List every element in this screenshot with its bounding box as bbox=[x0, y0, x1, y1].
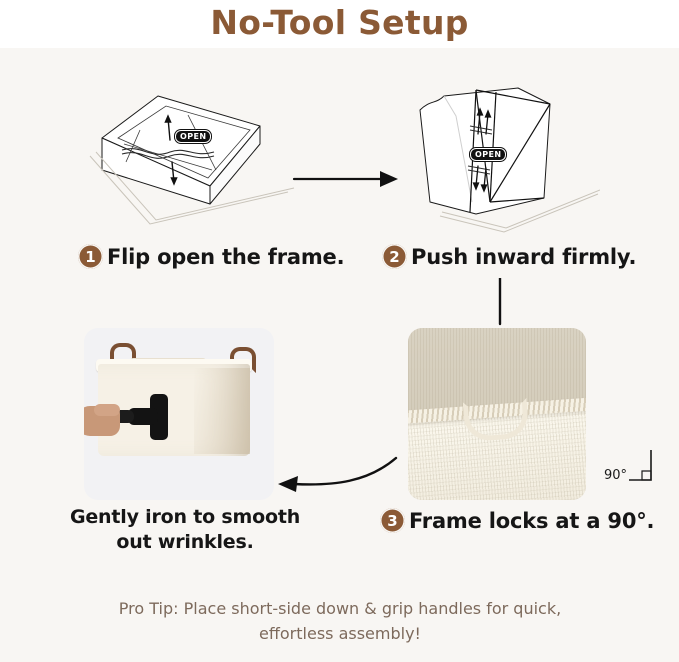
step-3-number: 3 bbox=[380, 508, 405, 533]
right-angle-icon bbox=[629, 448, 659, 486]
step-2-caption: 2 Push inward firmly. bbox=[382, 244, 636, 269]
pro-tip: Pro Tip: Place short-side down & grip ha… bbox=[60, 596, 620, 646]
step-2-illustration: OPEN bbox=[400, 82, 600, 234]
step-3-photo bbox=[408, 328, 586, 500]
iron-photo bbox=[84, 328, 274, 500]
step-1-label: Flip open the frame. bbox=[107, 245, 344, 269]
page-title: No-Tool Setup bbox=[0, 0, 679, 46]
step-1-illustration: OPEN bbox=[88, 82, 308, 232]
pro-tip-line-2: effortless assembly! bbox=[60, 621, 620, 646]
arrow-step2-to-step3 bbox=[492, 278, 508, 326]
iron-caption-line-2: out wrinkles. bbox=[40, 530, 330, 555]
angle-marker: 90° bbox=[604, 448, 659, 486]
step-2-number: 2 bbox=[382, 244, 407, 269]
iron-caption-line-1: Gently iron to smooth bbox=[40, 505, 330, 530]
flat-packed-bin-drawing bbox=[88, 82, 308, 232]
step-2-label: Push inward firmly. bbox=[411, 245, 636, 269]
step-3-caption: 3 Frame locks at a 90°. bbox=[380, 508, 654, 533]
hand-thumb bbox=[94, 404, 120, 416]
step-3-label: Frame locks at a 90°. bbox=[409, 509, 654, 533]
step-1-caption: 1 Flip open the frame. bbox=[78, 244, 344, 269]
arrow-step1-to-step2 bbox=[292, 168, 402, 190]
step-1-number: 1 bbox=[78, 244, 103, 269]
angle-label: 90° bbox=[604, 469, 627, 486]
open-badge-step-1: OPEN bbox=[175, 130, 211, 143]
pro-tip-line-1: Pro Tip: Place short-side down & grip ha… bbox=[60, 596, 620, 621]
arrow-step3-to-iron bbox=[272, 452, 404, 494]
open-badge-step-2: OPEN bbox=[470, 148, 506, 161]
infographic-page: No-Tool Setup bbox=[0, 0, 679, 662]
bin-shading bbox=[194, 368, 250, 454]
iron-caption: Gently iron to smooth out wrinkles. bbox=[40, 505, 330, 555]
